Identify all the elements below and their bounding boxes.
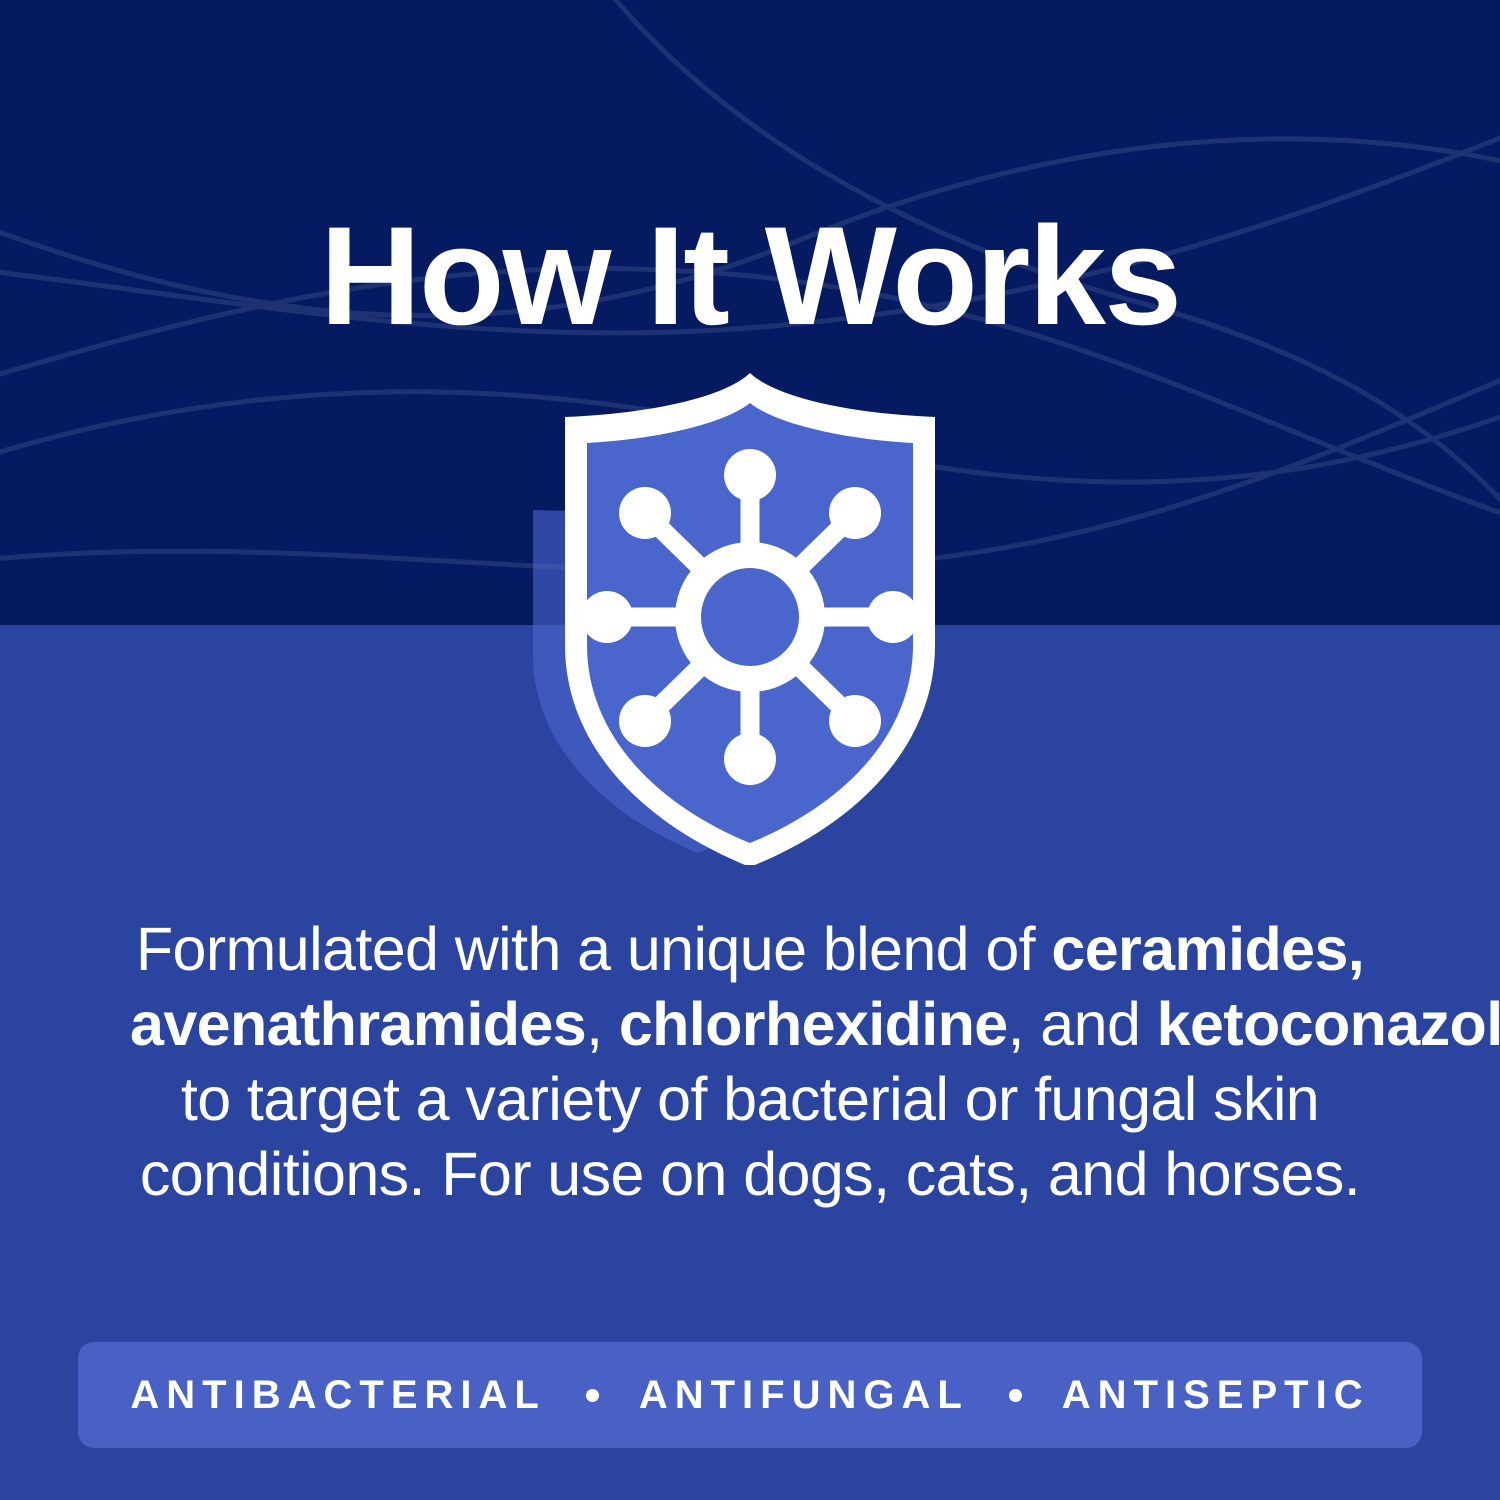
claim-badge: ANTISEPTIC [1062,1373,1370,1418]
how-it-works-panel: How It Works [0,0,1500,1500]
bullet-separator-icon [586,1389,599,1402]
description-run: to target a variety of bacterial or fung… [181,1065,1319,1133]
description-line: Formulated with a unique blend of cerami… [130,912,1370,987]
description-line: conditions. For use on dogs, cats, and h… [130,1137,1370,1212]
claim-badge: ANTIFUNGAL [639,1373,969,1418]
description-line: to target a variety of bacterial or fung… [130,1062,1370,1137]
ingredient-highlight: chlorhexidine [619,990,1008,1058]
ingredient-highlight: ceramides, [1051,915,1364,983]
description-run: , [586,990,619,1058]
claim-badge: ANTIBACTERIAL [130,1373,545,1418]
shield-icon [495,355,1005,865]
description-run: Formulated with a unique blend of [136,915,1052,983]
description-text: Formulated with a unique blend of cerami… [130,912,1370,1212]
description-run: , and [1008,990,1157,1058]
bullet-separator-icon [1009,1389,1022,1402]
description-line: avenathramides, chlorhexidine, and ketoc… [130,987,1370,1062]
ingredient-highlight: avenathramides [130,990,586,1058]
page-title: How It Works [0,206,1500,346]
description-run: conditions. For use on dogs, cats, and h… [140,1140,1360,1208]
claims-badge-bar: ANTIBACTERIALANTIFUNGALANTISEPTIC [78,1342,1422,1448]
ingredient-highlight: ketoconazole [1157,990,1500,1058]
